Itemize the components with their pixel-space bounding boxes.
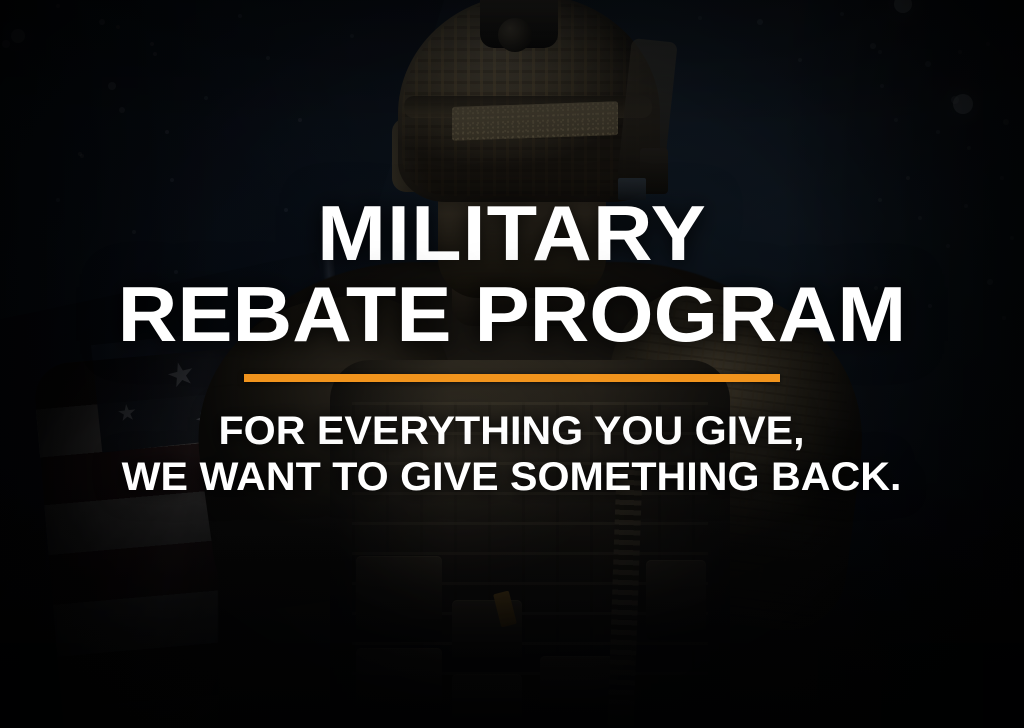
headline-line-1: MILITARY bbox=[118, 196, 907, 271]
banner-headline: MILITARY REBATE PROGRAM bbox=[118, 196, 907, 352]
subhead-line-2: WE WANT TO GIVE SOMETHING BACK. bbox=[122, 454, 902, 500]
banner-subhead: FOR EVERYTHING YOU GIVE, WE WANT TO GIVE… bbox=[122, 408, 902, 501]
headline-line-2: REBATE PROGRAM bbox=[118, 277, 907, 352]
military-rebate-banner: MILITARY REBATE PROGRAM FOR EVERYTHING Y… bbox=[0, 0, 1024, 728]
subhead-line-1: FOR EVERYTHING YOU GIVE, bbox=[122, 408, 902, 454]
orange-divider-rule bbox=[244, 374, 780, 382]
banner-content: MILITARY REBATE PROGRAM FOR EVERYTHING Y… bbox=[0, 0, 1024, 728]
